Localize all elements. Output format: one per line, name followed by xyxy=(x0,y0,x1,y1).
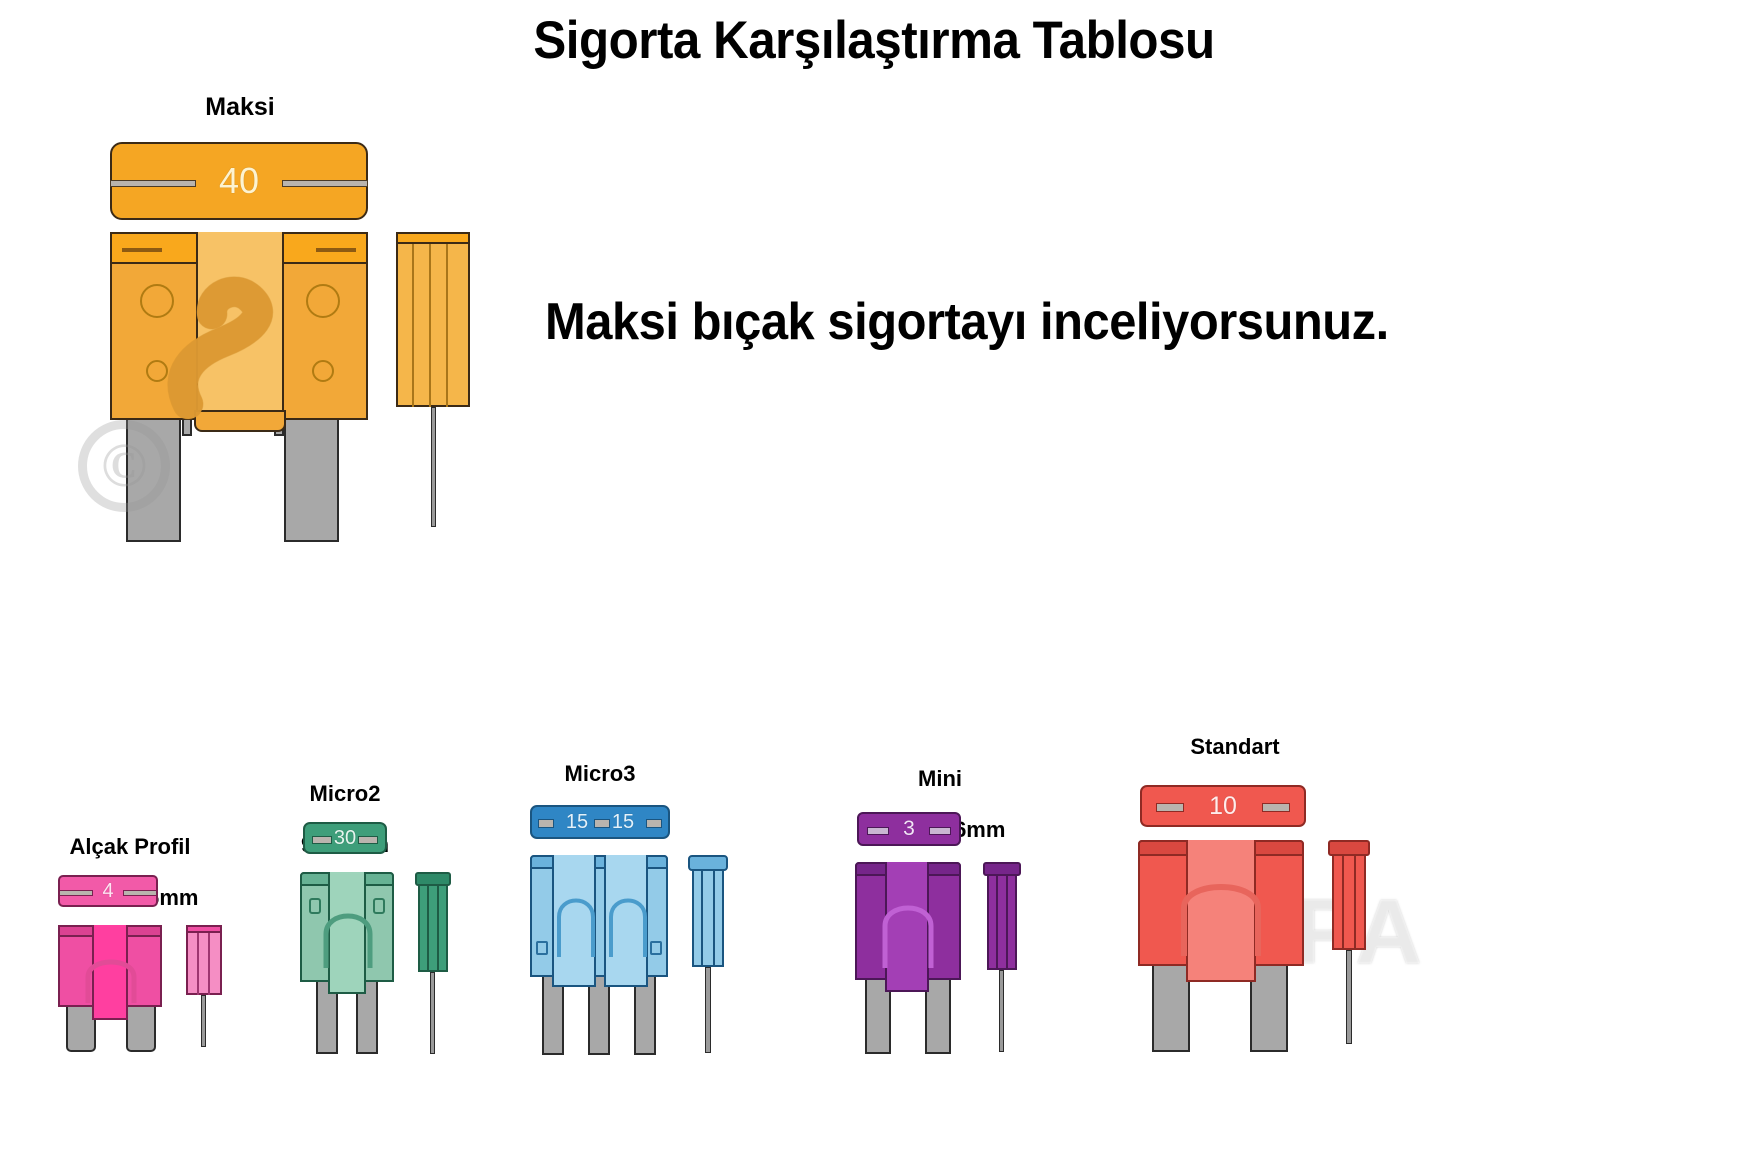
micro3-top-view: 15 15 xyxy=(530,805,670,839)
micro2-side-top-band xyxy=(415,872,451,886)
micro2-side-blade xyxy=(430,972,435,1054)
micro3-side-blade xyxy=(705,967,711,1053)
alcak-profil-rating-top: 4 xyxy=(102,880,113,903)
maksi-slot-right xyxy=(282,180,368,187)
micro2-rating-top: 30 xyxy=(334,827,356,850)
mini-front-view xyxy=(855,862,965,1057)
micro3-side-top-band xyxy=(688,855,728,871)
alcak-profil-slot-left xyxy=(59,890,93,896)
mini-fuse-element-icon xyxy=(879,888,937,970)
standart-blade-left xyxy=(1152,952,1190,1052)
micro2-side-rib-2 xyxy=(437,886,439,972)
standart-side-view xyxy=(1330,840,1380,1055)
caption-mini-name: Mini xyxy=(830,766,1050,792)
caption-maksi-name: Maksi xyxy=(110,93,370,122)
standart-slot-right xyxy=(1262,803,1290,812)
alcak-profil-side-top-band xyxy=(186,925,222,933)
maksi-side-body xyxy=(396,232,470,407)
standart-side-top-band xyxy=(1328,840,1370,856)
maksi-fuse-element-icon xyxy=(168,254,318,414)
caption-micro3-name: Micro3 xyxy=(495,761,705,787)
mini-rating-top: 3 xyxy=(903,817,915,841)
standart-side-blade xyxy=(1346,950,1352,1044)
alcak-profil-side-rib-2 xyxy=(208,933,210,995)
micro2-side-rib-1 xyxy=(427,886,429,972)
micro3-rating-left: 15 xyxy=(566,811,588,834)
maksi-side-rib-1 xyxy=(412,244,414,407)
mini-side-body xyxy=(987,862,1017,970)
maksi-side-rib-2 xyxy=(429,244,431,407)
alcak-profil-side-rib-1 xyxy=(197,933,199,995)
standart-side-rib-2 xyxy=(1354,856,1356,950)
micro2-fuse-element-icon xyxy=(320,894,376,970)
mini-top-view: 3 xyxy=(857,812,961,846)
micro2-slot-right xyxy=(358,836,378,844)
alcak-profil-slot-right xyxy=(123,890,157,896)
mini-side-rib-2 xyxy=(1006,876,1008,970)
copyright-watermark-icon: © xyxy=(78,420,170,512)
caption-standart-name: Standart xyxy=(1125,734,1345,760)
maksi-top-view: 40 xyxy=(110,142,368,220)
micro3-hole-right xyxy=(650,941,662,955)
micro3-side-rib-1 xyxy=(701,871,703,967)
alcak-profil-top-view: 4 xyxy=(58,875,158,907)
micro3-side-body xyxy=(692,855,724,967)
micro3-slot-middle xyxy=(594,819,610,828)
maksi-blade-right xyxy=(284,412,339,542)
standart-slot-left xyxy=(1156,803,1184,812)
mini-slot-left xyxy=(867,827,889,835)
maksi-side-rib-3 xyxy=(446,244,448,407)
caption-alcak-profil: Alçak Profil 10.90x7.6mm xyxy=(20,808,240,936)
micro2-top-view: 30 xyxy=(303,822,387,854)
micro3-side-view xyxy=(690,855,738,1055)
caption-micro2-name: Micro2 xyxy=(250,781,440,807)
micro2-side-view xyxy=(418,872,458,1057)
standart-fuse-element-icon xyxy=(1176,866,1266,958)
caption-micro3: Micro3 14x18mm xyxy=(495,735,705,863)
standart-front-view xyxy=(1138,840,1308,1055)
micro3-side-rib-2 xyxy=(713,871,715,967)
micro2-side-body xyxy=(418,872,448,972)
alcak-profil-side-body xyxy=(186,925,222,995)
maksi-cap-mark-right xyxy=(316,248,356,252)
maksi-side-blade xyxy=(431,407,436,527)
micro3-fuse-element-right-icon xyxy=(606,879,650,959)
mini-side-blade xyxy=(999,970,1004,1052)
maksi-hole-lower-left xyxy=(146,360,168,382)
mini-side-view xyxy=(985,862,1029,1057)
caption-alcak-profil-name: Alçak Profil xyxy=(20,834,240,860)
page-subtitle: Maksi bıçak sigortayı inceliyorsunuz. xyxy=(545,292,1654,352)
caption-mini: Mini 10.90x16mm xyxy=(830,740,1050,868)
maksi-slot-left xyxy=(110,180,196,187)
micro3-slot-left xyxy=(538,819,554,828)
mini-side-top-band xyxy=(983,862,1021,876)
micro3-rating-right: 15 xyxy=(612,811,634,834)
mini-slot-right xyxy=(929,827,951,835)
caption-micro2: Micro2 9x15mm xyxy=(250,755,440,883)
page-title: Sigorta Karşılaştırma Tablosu xyxy=(61,10,1687,71)
maksi-side-view xyxy=(396,232,476,532)
micro2-front-view xyxy=(300,872,400,1057)
alcak-profil-side-blade xyxy=(201,995,206,1047)
mini-side-rib-1 xyxy=(996,876,998,970)
alcak-profil-front-view xyxy=(58,925,168,1055)
micro3-hole-left xyxy=(536,941,548,955)
micro2-slot-left xyxy=(312,836,332,844)
alcak-profil-side-view xyxy=(186,925,232,1055)
standart-rating-top: 10 xyxy=(1209,792,1237,821)
micro3-slot-right xyxy=(646,819,662,828)
micro3-fuse-element-left-icon xyxy=(554,879,598,959)
alcak-profil-fuse-element-icon xyxy=(82,943,140,1005)
standart-side-body xyxy=(1332,840,1366,950)
standart-top-view: 10 xyxy=(1140,785,1306,827)
maksi-rating-top: 40 xyxy=(219,160,259,202)
maksi-cap-mark-left xyxy=(122,248,162,252)
micro3-front-view xyxy=(530,855,675,1055)
standart-side-rib-1 xyxy=(1342,856,1344,950)
fuse-comparison-chart: Sigorta Karşılaştırma Tablosu Maksi 29x3… xyxy=(0,0,1748,1164)
maksi-side-top-band xyxy=(396,232,470,244)
